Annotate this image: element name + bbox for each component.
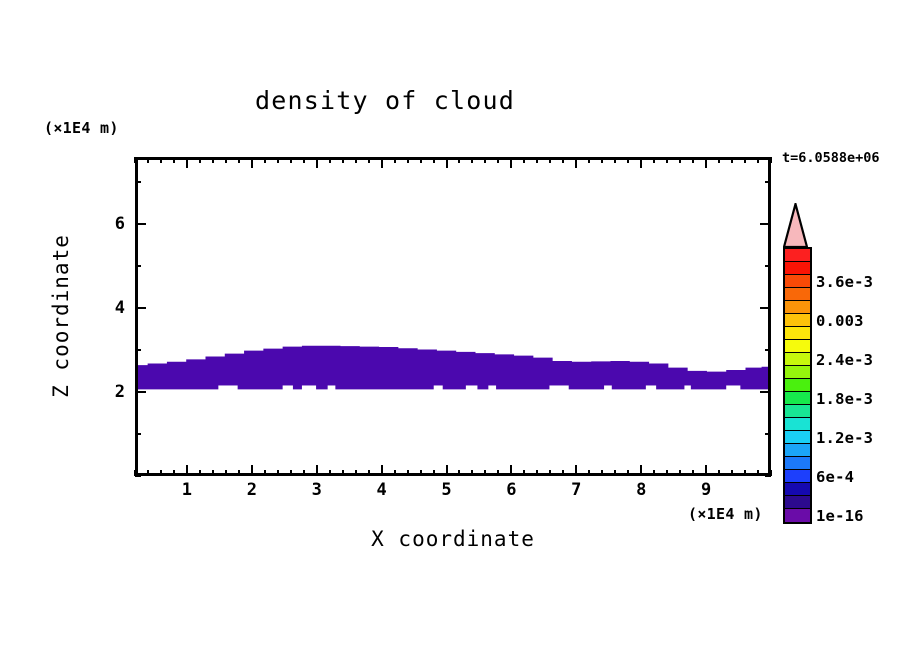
- x-tick-label: 2: [247, 480, 257, 500]
- x-minor-tick: [458, 470, 460, 476]
- colorbar-band: [785, 470, 810, 483]
- x-minor-tick: [588, 470, 590, 476]
- colorbar-band: [785, 314, 810, 327]
- plot-axes-frame: [135, 157, 771, 476]
- x-major-tick: [510, 465, 512, 476]
- x-minor-tick-top: [290, 157, 292, 163]
- x-minor-tick-top: [523, 157, 525, 163]
- x-minor-tick-top: [588, 157, 590, 163]
- x-minor-tick: [536, 470, 538, 476]
- x-minor-tick: [277, 470, 279, 476]
- cloud-density-area-plot: [138, 160, 768, 473]
- x-minor-tick-top: [277, 157, 279, 163]
- colorbar-band: [785, 379, 810, 392]
- time-annotation: t=6.0588e+06: [782, 150, 880, 166]
- colorbar-band: [785, 340, 810, 353]
- x-minor-tick-top: [458, 157, 460, 163]
- cloud-base-notch: [283, 385, 293, 389]
- x-minor-tick-top: [329, 157, 331, 163]
- x-minor-tick: [679, 470, 681, 476]
- x-minor-tick: [290, 470, 292, 476]
- x-major-tick-top: [446, 157, 448, 168]
- x-major-tick-top: [186, 157, 188, 168]
- x-minor-tick: [368, 470, 370, 476]
- cloud-base-notch: [466, 385, 478, 389]
- x-minor-tick: [160, 470, 162, 476]
- x-minor-tick: [731, 470, 733, 476]
- x-minor-tick: [653, 470, 655, 476]
- y-tick-label: 2: [97, 382, 125, 402]
- x-minor-tick: [601, 470, 603, 476]
- colorbar-tick-label: 6e-4: [816, 468, 854, 486]
- colorbar-tick-label: 0.003: [816, 312, 864, 330]
- x-minor-tick: [407, 470, 409, 476]
- y-minor-tick: [135, 181, 141, 183]
- x-major-tick: [251, 465, 253, 476]
- colorbar-band: [785, 509, 810, 522]
- x-major-tick-top: [705, 157, 707, 168]
- colorbar-band: [785, 275, 810, 288]
- y-axis-unit-note: (×1E4 m): [44, 119, 119, 137]
- y-minor-tick-right: [765, 181, 771, 183]
- y-minor-tick: [135, 349, 141, 351]
- x-minor-tick-top: [368, 157, 370, 163]
- x-minor-tick: [212, 470, 214, 476]
- x-minor-tick-top: [627, 157, 629, 163]
- x-major-tick-top: [575, 157, 577, 168]
- x-tick-label: 3: [312, 480, 322, 500]
- y-minor-tick-right: [765, 433, 771, 435]
- x-minor-tick: [355, 470, 357, 476]
- cloud-density-region: [138, 346, 768, 390]
- x-minor-tick: [718, 470, 720, 476]
- cloud-base-notch: [488, 385, 496, 389]
- x-minor-tick: [329, 470, 331, 476]
- x-major-tick-top: [510, 157, 512, 168]
- colorbar-band: [785, 301, 810, 314]
- colorbar-tick-label: 1.8e-3: [816, 390, 873, 408]
- x-minor-tick-top: [757, 157, 759, 163]
- x-minor-tick-top: [731, 157, 733, 163]
- cloud-base-notch: [218, 385, 237, 389]
- figure-canvas: density of cloud (×1E4 m) t=6.0588e+06 1…: [0, 0, 904, 654]
- x-minor-tick-top: [497, 157, 499, 163]
- x-minor-tick-top: [173, 157, 175, 163]
- colorbar-band: [785, 483, 810, 496]
- y-axis-title: Z coordinate: [49, 234, 73, 398]
- x-tick-label: 9: [701, 480, 711, 500]
- x-minor-tick-top: [225, 157, 227, 163]
- x-major-tick: [640, 465, 642, 476]
- y-tick-label: 4: [97, 298, 125, 318]
- x-minor-tick: [484, 470, 486, 476]
- colorbar-band: [785, 366, 810, 379]
- x-major-tick: [446, 465, 448, 476]
- x-tick-label: 1: [182, 480, 192, 500]
- x-major-tick-top: [251, 157, 253, 168]
- x-minor-tick-top: [679, 157, 681, 163]
- x-minor-tick-top: [614, 157, 616, 163]
- y-major-tick-right: [760, 391, 771, 393]
- x-major-tick-top: [381, 157, 383, 168]
- x-minor-tick: [744, 470, 746, 476]
- x-minor-tick: [497, 470, 499, 476]
- x-minor-tick-top: [433, 157, 435, 163]
- x-major-tick: [705, 465, 707, 476]
- cloud-base-notch: [646, 385, 656, 389]
- x-minor-tick-top: [601, 157, 603, 163]
- colorbar-band: [785, 392, 810, 405]
- colorbar-tick-label: 3.6e-3: [816, 273, 873, 291]
- x-major-tick-top: [640, 157, 642, 168]
- x-minor-tick-top: [653, 157, 655, 163]
- x-minor-tick-top: [342, 157, 344, 163]
- colorbar-bands: [783, 247, 812, 524]
- x-major-tick: [316, 465, 318, 476]
- x-minor-tick-top: [744, 157, 746, 163]
- cloud-base-notch: [549, 385, 568, 389]
- x-minor-tick-top: [718, 157, 720, 163]
- colorbar-band: [785, 249, 810, 262]
- x-minor-tick-top: [770, 157, 772, 163]
- colorbar-tick-label: 1e-16: [816, 507, 864, 525]
- x-minor-tick: [264, 470, 266, 476]
- x-minor-tick-top: [549, 157, 551, 163]
- cloud-base-notch: [302, 385, 316, 389]
- x-minor-tick: [420, 470, 422, 476]
- x-minor-tick-top: [199, 157, 201, 163]
- x-minor-tick-top: [160, 157, 162, 163]
- x-minor-tick-top: [303, 157, 305, 163]
- y-major-tick-right: [760, 223, 771, 225]
- x-minor-tick: [342, 470, 344, 476]
- y-tick-label: 6: [97, 214, 125, 234]
- cloud-base-notch: [726, 385, 740, 389]
- x-tick-label: 4: [376, 480, 386, 500]
- y-major-tick: [135, 307, 146, 309]
- x-minor-tick: [199, 470, 201, 476]
- x-minor-tick-top: [420, 157, 422, 163]
- y-minor-tick: [135, 433, 141, 435]
- x-minor-tick-top: [666, 157, 668, 163]
- x-major-tick-top: [316, 157, 318, 168]
- colorbar-band: [785, 327, 810, 340]
- y-minor-tick-right: [765, 349, 771, 351]
- x-minor-tick-top: [134, 157, 136, 163]
- x-minor-tick: [433, 470, 435, 476]
- x-minor-tick: [238, 470, 240, 476]
- x-minor-tick-top: [264, 157, 266, 163]
- x-tick-label: 8: [636, 480, 646, 500]
- y-major-tick: [135, 391, 146, 393]
- x-minor-tick: [549, 470, 551, 476]
- x-minor-tick-top: [692, 157, 694, 163]
- colorbar-band: [785, 288, 810, 301]
- colorbar-band: [785, 405, 810, 418]
- y-major-tick-right: [760, 307, 771, 309]
- y-minor-tick-right: [765, 475, 771, 477]
- colorbar-tick-label: 1.2e-3: [816, 429, 873, 447]
- y-major-tick: [135, 223, 146, 225]
- x-minor-tick: [757, 470, 759, 476]
- x-minor-tick: [471, 470, 473, 476]
- x-tick-label: 6: [506, 480, 516, 500]
- x-minor-tick-top: [147, 157, 149, 163]
- x-tick-label: 7: [571, 480, 581, 500]
- x-minor-tick-top: [394, 157, 396, 163]
- x-minor-tick: [147, 470, 149, 476]
- x-minor-tick: [627, 470, 629, 476]
- colorbar-band: [785, 457, 810, 470]
- y-minor-tick: [135, 475, 141, 477]
- colorbar-band: [785, 418, 810, 431]
- x-minor-tick: [614, 470, 616, 476]
- x-minor-tick: [394, 470, 396, 476]
- x-minor-tick: [692, 470, 694, 476]
- x-major-tick: [186, 465, 188, 476]
- y-minor-tick: [135, 265, 141, 267]
- colorbar-tick-label: 2.4e-3: [816, 351, 873, 369]
- x-minor-tick: [225, 470, 227, 476]
- x-minor-tick-top: [407, 157, 409, 163]
- colorbar-band: [785, 496, 810, 509]
- cloud-base-notch: [434, 385, 443, 389]
- x-tick-label: 5: [441, 480, 451, 500]
- x-major-tick: [575, 465, 577, 476]
- cloud-base-notch: [604, 385, 612, 389]
- colorbar-band: [785, 444, 810, 457]
- x-minor-tick-top: [212, 157, 214, 163]
- x-minor-tick: [562, 470, 564, 476]
- x-minor-tick-top: [536, 157, 538, 163]
- x-minor-tick-top: [238, 157, 240, 163]
- x-minor-tick-top: [484, 157, 486, 163]
- x-minor-tick-top: [562, 157, 564, 163]
- x-minor-tick: [523, 470, 525, 476]
- colorbar-band: [785, 262, 810, 275]
- page-title: density of cloud: [0, 86, 770, 115]
- x-axis-unit-note: (×1E4 m): [688, 505, 763, 523]
- y-minor-tick-right: [765, 265, 771, 267]
- cloud-base-notch: [328, 385, 336, 389]
- x-minor-tick: [666, 470, 668, 476]
- colorbar-band: [785, 431, 810, 444]
- cloud-base-notch: [684, 385, 690, 389]
- x-minor-tick: [303, 470, 305, 476]
- colorbar-arrow-icon: [783, 203, 808, 248]
- x-minor-tick: [173, 470, 175, 476]
- colorbar-band: [785, 353, 810, 366]
- x-minor-tick-top: [471, 157, 473, 163]
- x-axis-title: X coordinate: [135, 527, 771, 551]
- x-minor-tick-top: [355, 157, 357, 163]
- x-major-tick: [381, 465, 383, 476]
